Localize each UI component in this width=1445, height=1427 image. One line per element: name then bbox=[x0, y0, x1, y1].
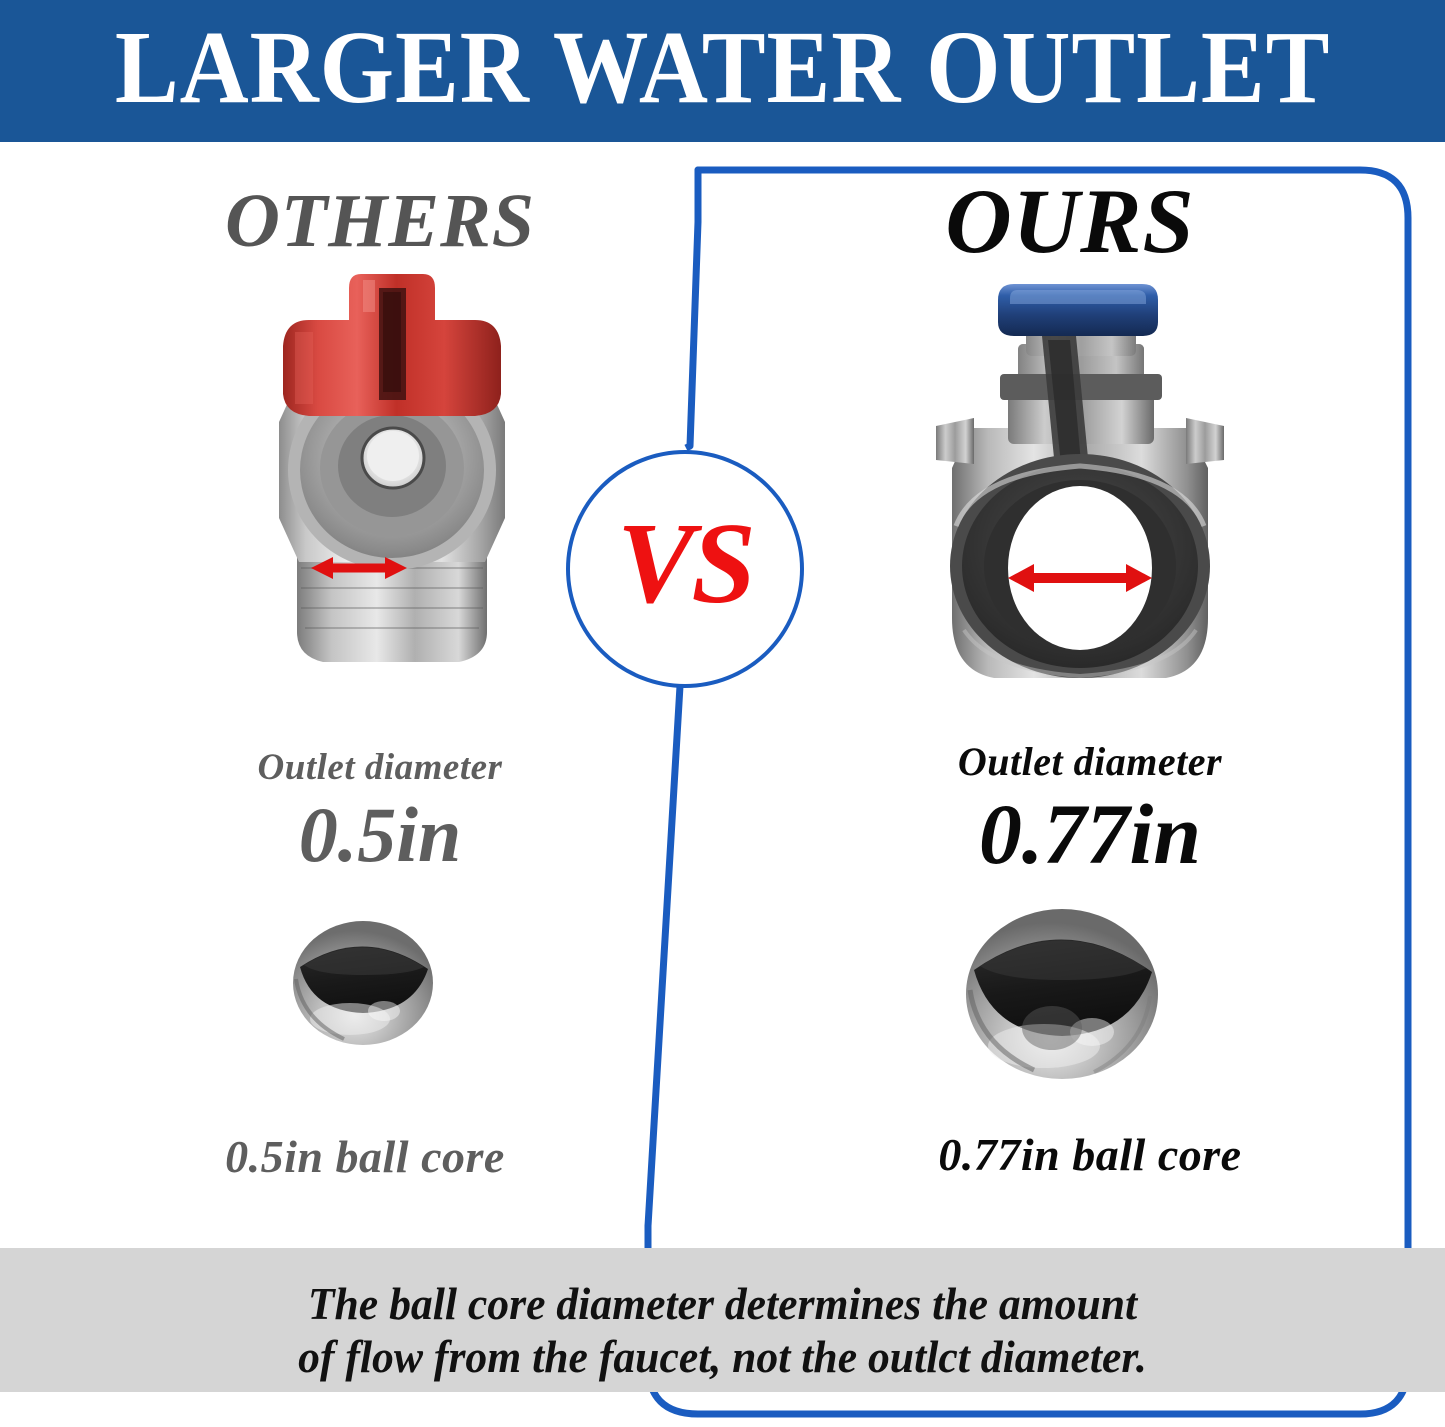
valve-illustration-ours bbox=[930, 278, 1230, 688]
outlet-diameter-label-others: Outlet diameter bbox=[140, 748, 620, 789]
outlet-diameter-value-ours: 0.77in bbox=[845, 788, 1335, 881]
bottom-note-text: The ball core diameter determines the am… bbox=[22, 1278, 1424, 1384]
spec-block-others: Outlet diameter 0.5in bbox=[140, 748, 620, 877]
infographic-page: LARGER WATER OUTLET OTHERS OURS bbox=[0, 0, 1445, 1427]
valve-illustration-others bbox=[243, 272, 543, 672]
page-title: LARGER WATER OUTLET bbox=[115, 16, 1331, 126]
bottom-note-line-1: The ball core diameter determines the am… bbox=[22, 1278, 1424, 1331]
column-heading-others: OTHERS bbox=[160, 178, 600, 265]
outlet-diameter-value-others: 0.5in bbox=[140, 793, 620, 877]
bottom-note-line-2: of flow from the faucet, not the outlct … bbox=[22, 1331, 1424, 1384]
ball-core-illustration-others bbox=[288, 915, 438, 1047]
spec-block-ours: Outlet diameter 0.77in bbox=[845, 740, 1335, 881]
ball-core-caption-ours: 0.77in ball core bbox=[840, 1128, 1340, 1181]
ball-core-illustration-ours bbox=[960, 900, 1165, 1080]
outlet-diameter-label-ours: Outlet diameter bbox=[845, 740, 1335, 784]
column-heading-ours: OURS bbox=[860, 168, 1280, 274]
vs-badge: VS bbox=[566, 450, 804, 688]
vs-label: VS bbox=[617, 506, 753, 632]
header-banner: LARGER WATER OUTLET bbox=[0, 0, 1445, 142]
ball-core-caption-others: 0.5in ball core bbox=[120, 1130, 610, 1183]
